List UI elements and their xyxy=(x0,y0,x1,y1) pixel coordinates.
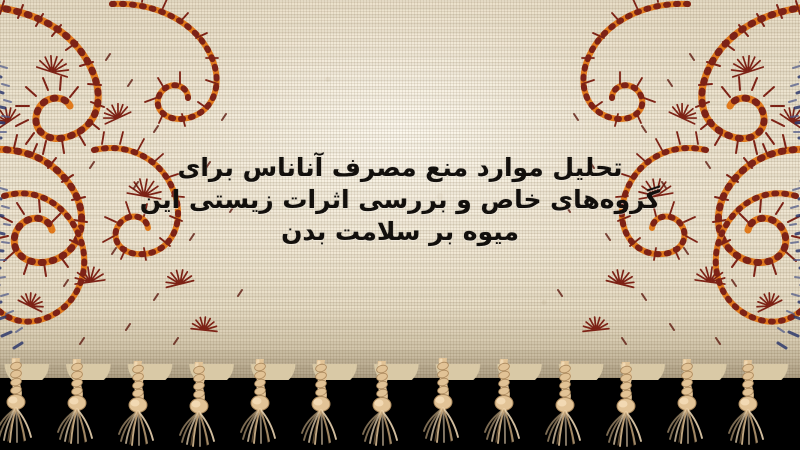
tassel xyxy=(543,361,587,449)
title-line-3: میوه بر سلامت بدن xyxy=(0,216,800,248)
tassel xyxy=(55,359,99,447)
tassel xyxy=(726,360,770,448)
title-line-2: گروه‌های خاص و بررسی اثرات زیستی این xyxy=(0,184,800,216)
tassel xyxy=(238,359,282,447)
tassel xyxy=(604,362,648,450)
tassel xyxy=(421,358,465,446)
tassel xyxy=(665,359,709,447)
title-text-block: تحلیل موارد منع مصرف آناناس برای گروه‌ها… xyxy=(0,152,800,248)
tassel-fringe-row xyxy=(0,360,800,450)
tassel xyxy=(482,359,526,447)
tassel xyxy=(299,360,343,448)
title-card-canvas: تحلیل موارد منع مصرف آناناس برای گروه‌ها… xyxy=(0,0,800,450)
tassel xyxy=(0,358,38,446)
title-line-1: تحلیل موارد منع مصرف آناناس برای xyxy=(0,152,800,184)
tassel xyxy=(116,361,160,449)
tassel xyxy=(177,362,221,450)
tassel xyxy=(360,361,404,449)
